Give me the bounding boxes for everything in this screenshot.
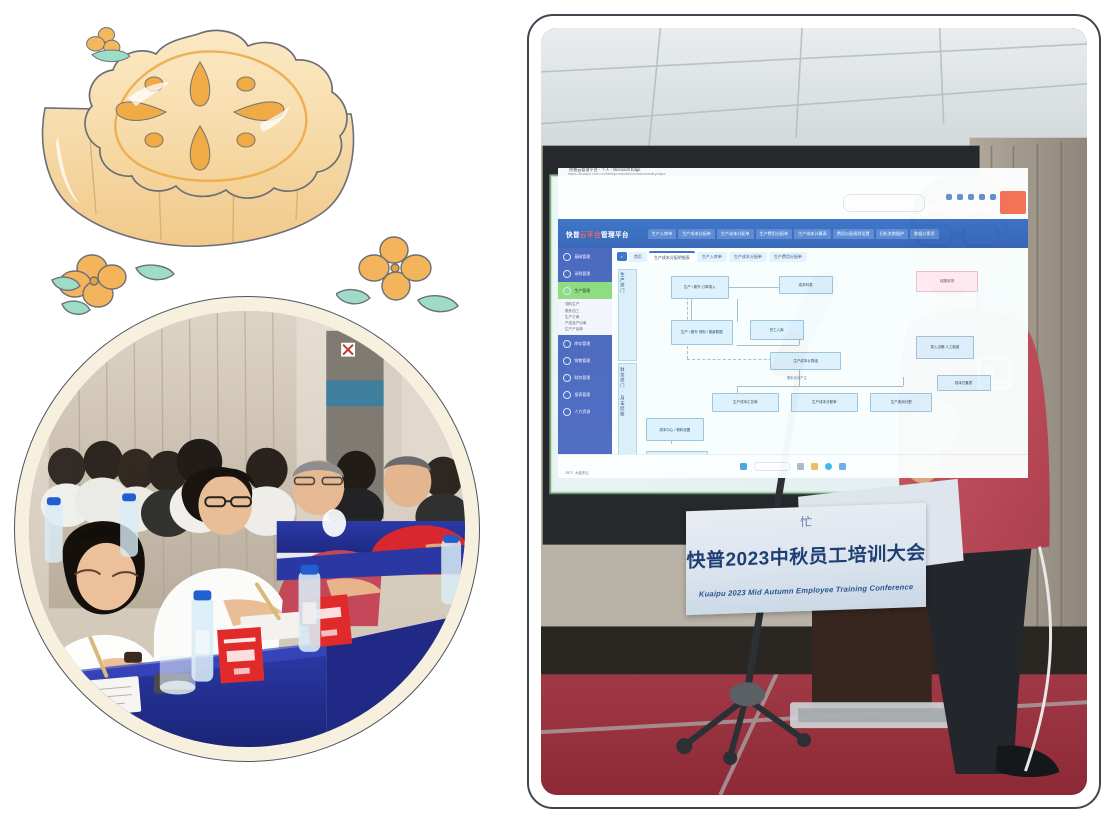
app-logo-prefix: 快普 (566, 232, 580, 239)
subtab-home[interactable]: 首页 (629, 252, 647, 262)
toolbar-icons[interactable] (946, 194, 1007, 200)
sidebar-subitems[interactable]: 领料生产 委外加工 生产订单 产成品产出单 生产产品单 (558, 299, 612, 335)
app-header: 快普云平台管理平台 生产入库单 生产成本分配单 生产成本分配单 生产费用分配单 … (558, 219, 1028, 249)
power-button[interactable] (1000, 191, 1026, 215)
flow-node-5[interactable]: 生产成本计算组 (770, 352, 841, 370)
flow-connector (903, 377, 904, 386)
top-tab[interactable]: 生产费用分配单 (756, 229, 793, 239)
flow-node-4[interactable]: 完工入库 (750, 320, 804, 341)
mooncake-illustration (28, 18, 368, 268)
swimlane-label: 生产部门 (619, 272, 625, 294)
store-icon[interactable] (839, 463, 846, 470)
sidebar-bullet-icon (563, 391, 571, 399)
speaker-photo-frame: 快普云管理平台 - 个人 - Microsoft Edge https://ku… (527, 14, 1101, 809)
sidebar-label: 人力资源 (574, 409, 590, 415)
flow-connector (737, 345, 799, 346)
app-logo-suffix: 管理平台 (601, 232, 629, 239)
weather-text: 大部多云 (575, 470, 589, 475)
subtab[interactable]: 生产成本分配单 (729, 252, 767, 262)
flow-node-8[interactable]: 生产成本分配单 (791, 393, 857, 411)
swimlane-label: 财务部门 · 月末结账 (619, 367, 625, 417)
sidebar-label: 报表管理 (574, 392, 590, 398)
sidebar-label: 销售管理 (574, 358, 590, 364)
sidebar-label: 采购管理 (574, 271, 590, 277)
top-tab[interactable]: 生产成本分配单 (678, 229, 715, 239)
help-icon[interactable] (990, 194, 996, 200)
user-icon[interactable] (957, 194, 963, 200)
top-tab[interactable]: 生产入库单 (648, 229, 676, 239)
sidebar-item-1[interactable]: 采购管理 (558, 265, 612, 282)
flow-node-3[interactable]: 生产 / 委外 领料 / 报废数据 (671, 320, 733, 345)
top-tab[interactable]: 生产成本计算表 (794, 229, 831, 239)
podium-logo-icon: 忙 (800, 513, 812, 530)
address-value: https://kuaipu.com.cn/html/production/co… (568, 171, 666, 176)
flow-node-2[interactable]: 线路安排 (916, 271, 978, 292)
app-sidebar[interactable]: 基础管理 采购管理 生产管理 领料生产 委外加工 (558, 248, 612, 478)
sidebar-bullet-icon (563, 357, 571, 365)
sidebar-bullet-icon (563, 374, 571, 382)
top-tab[interactable]: 归机关数据护 (876, 229, 909, 239)
app-content: < 首页 生产成本分配明细表 生产入库单 生产成本分配单 生产费用分配单 生产部… (612, 248, 1028, 478)
mail-icon[interactable] (979, 194, 985, 200)
taskbar-search[interactable] (754, 462, 790, 471)
sidebar-bullet-icon (563, 340, 571, 348)
flow-connector (737, 299, 738, 322)
subtab-prev-button[interactable]: < (617, 252, 627, 261)
flow-connector (737, 386, 903, 387)
list-icon[interactable] (946, 194, 952, 200)
flow-node-10[interactable]: 成本归集表 (937, 375, 991, 391)
speaker-photo: 快普云管理平台 - 个人 - Microsoft Edge https://ku… (541, 28, 1087, 795)
home-icon[interactable] (968, 194, 974, 200)
audience-photo-frame (14, 296, 480, 762)
flow-edge-label: 期末自动产生 (787, 375, 807, 380)
sidebar-item-5[interactable]: 财务管理 (558, 369, 612, 386)
collage-stage: 快普云管理平台 - 个人 - Microsoft Edge https://ku… (0, 0, 1112, 840)
flow-node-1[interactable]: 成本料表 (779, 276, 833, 294)
weather-temp: 29°C (566, 471, 574, 475)
sidebar-bullet-icon (563, 270, 571, 278)
audience-photo (29, 311, 465, 747)
sidebar-bullet-icon (563, 408, 571, 416)
windows-taskbar[interactable] (558, 454, 1028, 478)
swimlane-production: 生产部门 (618, 269, 637, 361)
address-bar[interactable]: https://kuaipu.com.cn/html/production/co… (568, 172, 666, 175)
sidebar-subitem[interactable]: 生产产品单 (565, 326, 613, 332)
podium-title-cn: 快普2023中秋员工培训大会 (686, 538, 925, 573)
sidebar-item-7[interactable]: 人力资源 (558, 403, 612, 420)
sidebar-label: 财务管理 (574, 375, 590, 381)
podium-title-en: Kuaipu 2023 Mid Autumn Employee Training… (699, 582, 913, 598)
flow-node-11[interactable]: 成本中心 / 物料设置 (646, 418, 704, 441)
app-logo-accent: 云平台 (580, 232, 601, 239)
subtab[interactable]: 生产费用分配单 (769, 252, 807, 262)
projected-screen: 快普云管理平台 - 个人 - Microsoft Edge https://ku… (558, 168, 1028, 479)
sidebar-item-4[interactable]: 销售管理 (558, 352, 612, 369)
app-logo: 快普云平台管理平台 (558, 229, 628, 239)
flow-node-9[interactable]: 生产费用分配 (870, 393, 932, 411)
search-input[interactable] (843, 194, 925, 212)
explorer-icon[interactable] (797, 463, 804, 470)
top-tab[interactable]: 数据公票用 (910, 229, 938, 239)
flow-node-0[interactable]: 生产 / 委外 订单录入 (671, 276, 729, 299)
sidebar-label: 生产管理 (574, 288, 590, 294)
folder-icon[interactable] (811, 463, 818, 470)
edge-icon[interactable] (825, 463, 832, 470)
sidebar-item-3[interactable]: 库存管理 (558, 335, 612, 352)
sidebar-item-2[interactable]: 生产管理 (558, 282, 612, 299)
flow-node-7[interactable]: 生产成本汇总单 (712, 393, 778, 411)
sidebar-label: 基础管理 (574, 254, 590, 260)
sidebar-bullet-icon (563, 253, 571, 261)
top-tab[interactable]: 生产成本分配单 (717, 229, 754, 239)
start-icon[interactable] (740, 463, 747, 470)
subtab-active[interactable]: 生产成本分配明细表 (649, 251, 695, 263)
sidebar-item-0[interactable]: 基础管理 (558, 248, 612, 265)
top-tab[interactable]: 费用公配规则设置 (833, 229, 874, 239)
podium-banner: 忙 快普2023中秋员工培训大会 Kuaipu 2023 Mid Autumn … (686, 503, 926, 615)
sidebar-item-6[interactable]: 报表管理 (558, 386, 612, 403)
sidebar-bullet-icon (563, 287, 571, 295)
sidebar-label: 库存管理 (574, 341, 590, 347)
subtab[interactable]: 生产入库单 (697, 252, 727, 262)
app-top-tabs[interactable]: 生产入库单 生产成本分配单 生产成本分配单 生产费用分配单 生产成本计算表 费用… (648, 229, 1028, 239)
content-subtabs[interactable]: < 首页 生产成本分配明细表 生产入库单 生产成本分配单 生产费用分配单 (617, 251, 807, 263)
taskbar-weather[interactable]: 29°C 大部多云 (566, 470, 589, 475)
flow-node-6[interactable]: 录入当期 人工制费 (916, 336, 974, 359)
